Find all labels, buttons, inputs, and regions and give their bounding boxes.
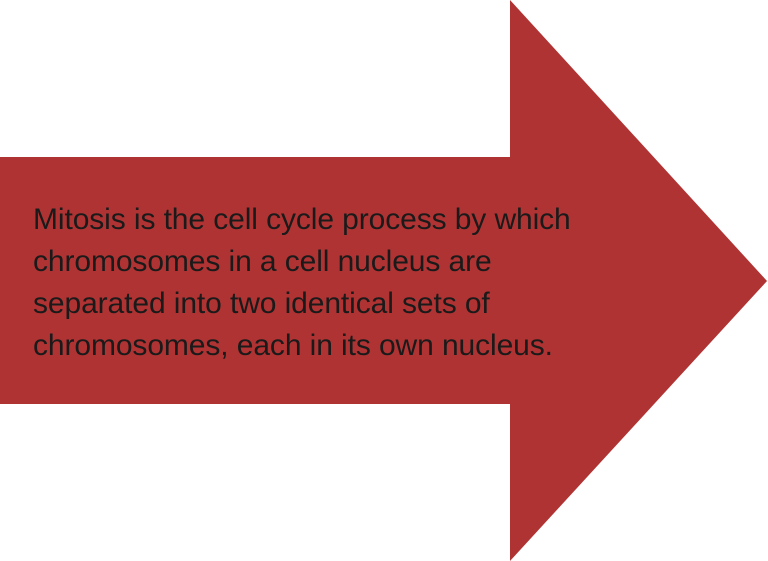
slide-canvas: Mitosis is the cell cycle process by whi… xyxy=(0,0,768,561)
callout-text: Mitosis is the cell cycle process by whi… xyxy=(33,199,673,367)
